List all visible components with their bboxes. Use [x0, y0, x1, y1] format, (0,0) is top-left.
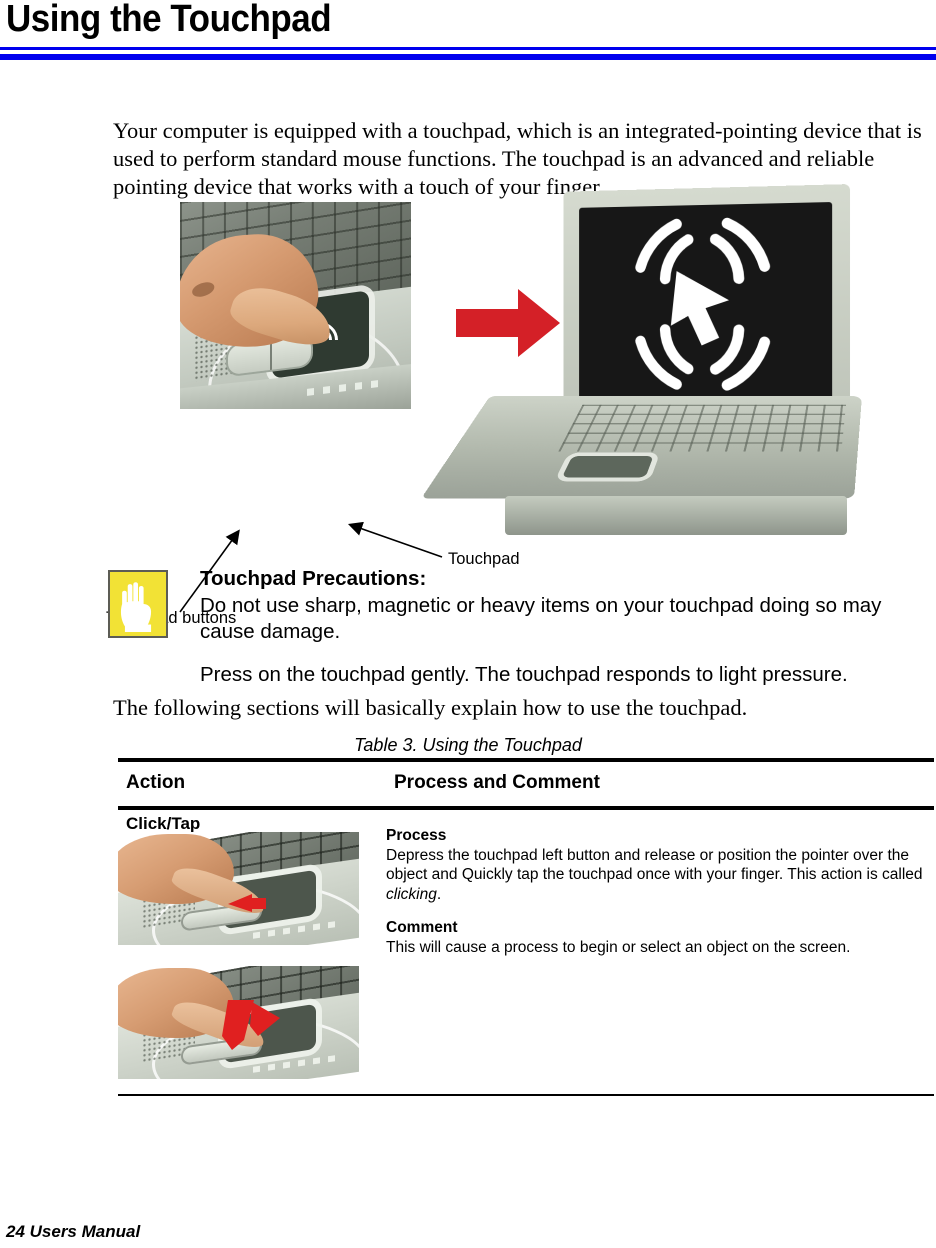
following-sections-text: The following sections will basically ex… — [113, 695, 747, 721]
stop-hand-icon — [108, 570, 168, 638]
precaution-title: Touchpad Precautions: — [200, 566, 930, 593]
cell-process-comment: Process Depress the touchpad left button… — [386, 826, 926, 957]
laptop-lid — [563, 184, 850, 428]
precaution-body: Do not use sharp, magnetic or heavy item… — [200, 593, 930, 646]
touchpad-figure: Touchpad Touchpad buttons — [0, 182, 936, 552]
laptop-front-edge — [505, 496, 847, 535]
cursor-click-icon — [579, 202, 831, 406]
page-footer: 24 Users Manual — [6, 1222, 140, 1242]
table-header-row: Action Process and Comment — [118, 762, 934, 806]
press-arrow-icon — [228, 890, 274, 920]
comment-heading: Comment — [386, 918, 926, 938]
header-rule-thick — [0, 54, 936, 60]
table-caption: Table 3. Using the Touchpad — [0, 735, 936, 756]
table-header-action: Action — [126, 772, 185, 794]
process-heading: Process — [386, 826, 926, 846]
knuckle — [191, 279, 217, 299]
page-title: Using the Touchpad — [6, 0, 331, 41]
press-left-button-photo — [118, 832, 359, 945]
laptop-base — [421, 396, 862, 499]
precaution-text: Touchpad Precautions: Do not use sharp, … — [200, 566, 930, 688]
process-body-text: Depress the touchpad left button and rel… — [386, 847, 923, 884]
tap-touchpad-photo — [118, 966, 359, 1079]
cell-action-label: Click/Tap — [126, 814, 200, 834]
open-laptop-photo — [490, 188, 862, 546]
process-body-italic: clicking — [386, 886, 437, 903]
header-divider — [0, 47, 936, 60]
hand-on-touchpad-photo — [180, 202, 411, 409]
table-row: Click/Tap — [118, 810, 934, 1094]
comment-body: This will cause a process to begin or se… — [386, 938, 926, 958]
table-header-process: Process and Comment — [394, 772, 600, 794]
table-bottom-rule — [118, 1094, 934, 1096]
laptop-keyboard — [558, 405, 846, 452]
comment-group: Comment This will cause a process to beg… — [386, 918, 926, 957]
touchpad-actions-table: Action Process and Comment Click/Tap — [118, 758, 934, 1096]
touchpad-button-divider — [270, 340, 272, 369]
process-body: Depress the touchpad left button and rel… — [386, 846, 926, 905]
tap-arrow-icon — [214, 996, 290, 1058]
process-body-end: . — [437, 886, 441, 903]
laptop-touchpad — [561, 456, 653, 478]
laptop-screen — [579, 202, 831, 406]
precaution-body-2: Press on the touchpad gently. The touchp… — [200, 662, 930, 689]
